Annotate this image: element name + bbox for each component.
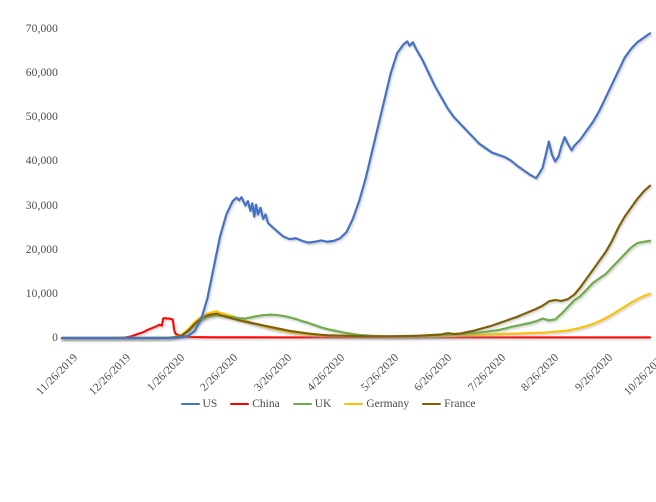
- legend-swatch-icon: [230, 403, 249, 406]
- chart-legend: USChinaUKGermanyFrance: [0, 398, 656, 410]
- legend-item-china[interactable]: China: [230, 398, 279, 410]
- series-line-uk: [62, 241, 650, 338]
- legend-swatch-icon: [344, 403, 363, 406]
- line-chart: 010,00020,00030,00040,00050,00060,00070,…: [0, 0, 656, 424]
- legend-label: China: [252, 398, 279, 410]
- legend-item-germany[interactable]: Germany: [344, 398, 409, 410]
- plot-area: [0, 0, 656, 424]
- legend-swatch-icon: [293, 403, 312, 406]
- legend-label: France: [444, 398, 475, 410]
- legend-swatch-icon: [181, 403, 200, 406]
- legend-label: Germany: [366, 398, 409, 410]
- legend-label: US: [203, 398, 218, 410]
- legend-label: UK: [315, 398, 332, 410]
- legend-item-us[interactable]: US: [181, 398, 218, 410]
- legend-swatch-icon: [422, 403, 441, 406]
- series-line-us: [62, 33, 650, 338]
- legend-item-uk[interactable]: UK: [293, 398, 332, 410]
- legend-item-france[interactable]: France: [422, 398, 475, 410]
